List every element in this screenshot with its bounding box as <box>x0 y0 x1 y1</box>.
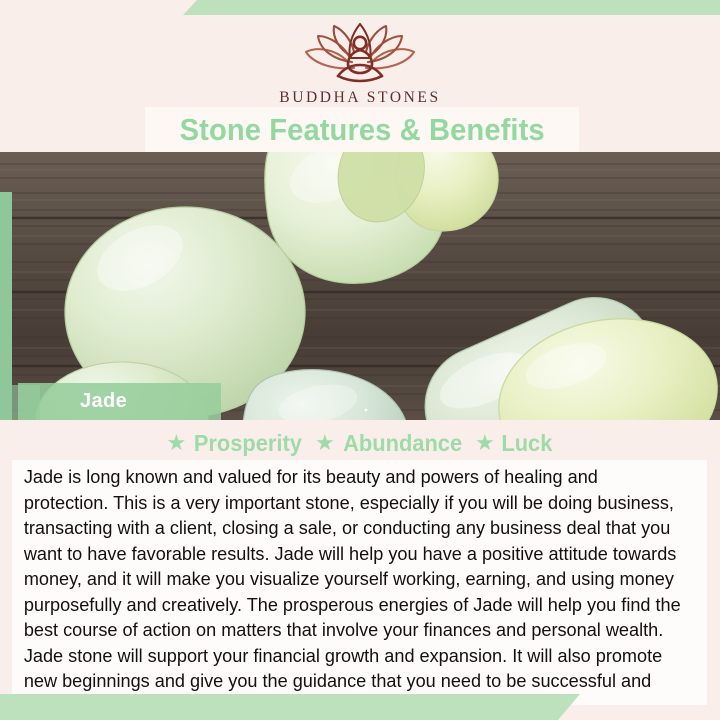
jade-stones-photo <box>0 152 720 420</box>
jade-stones-illustration <box>0 152 720 420</box>
top-green-accent-band <box>183 0 720 15</box>
bottom-green-accent-band <box>0 694 580 720</box>
star-icon: ★ <box>167 432 187 454</box>
stone-name-band: Jade <box>18 383 221 420</box>
benefit-item-abundance: ★ Abundance <box>315 430 465 457</box>
benefit-item-prosperity: ★ Prosperity <box>167 430 306 457</box>
stone-name-label: Jade <box>80 390 127 413</box>
benefit-item-luck: ★ Luck <box>475 430 553 457</box>
brand-logo: BUDDHA STONES <box>0 18 720 107</box>
page-title: Stone Features & Benefits <box>179 112 544 148</box>
content-panel: ★ Prosperity ★ Abundance ★ Luck Jade is … <box>0 420 720 720</box>
title-banner: Stone Features & Benefits <box>145 107 579 153</box>
benefits-row: ★ Prosperity ★ Abundance ★ Luck <box>0 430 720 457</box>
brand-name: BUDDHA STONES <box>279 89 440 107</box>
benefit-label: Prosperity <box>194 430 302 457</box>
benefit-label: Abundance <box>343 430 462 457</box>
lotus-meditation-icon <box>294 18 426 86</box>
description-card: Jade is long known and valued for its be… <box>12 460 707 705</box>
infographic-page: BUDDHA STONES Stone Features & Benefits <box>0 0 720 720</box>
description-text: Jade is long known and valued for its be… <box>12 460 697 719</box>
star-icon: ★ <box>475 432 495 454</box>
benefit-label: Luck <box>501 430 552 457</box>
star-icon: ★ <box>315 432 335 454</box>
